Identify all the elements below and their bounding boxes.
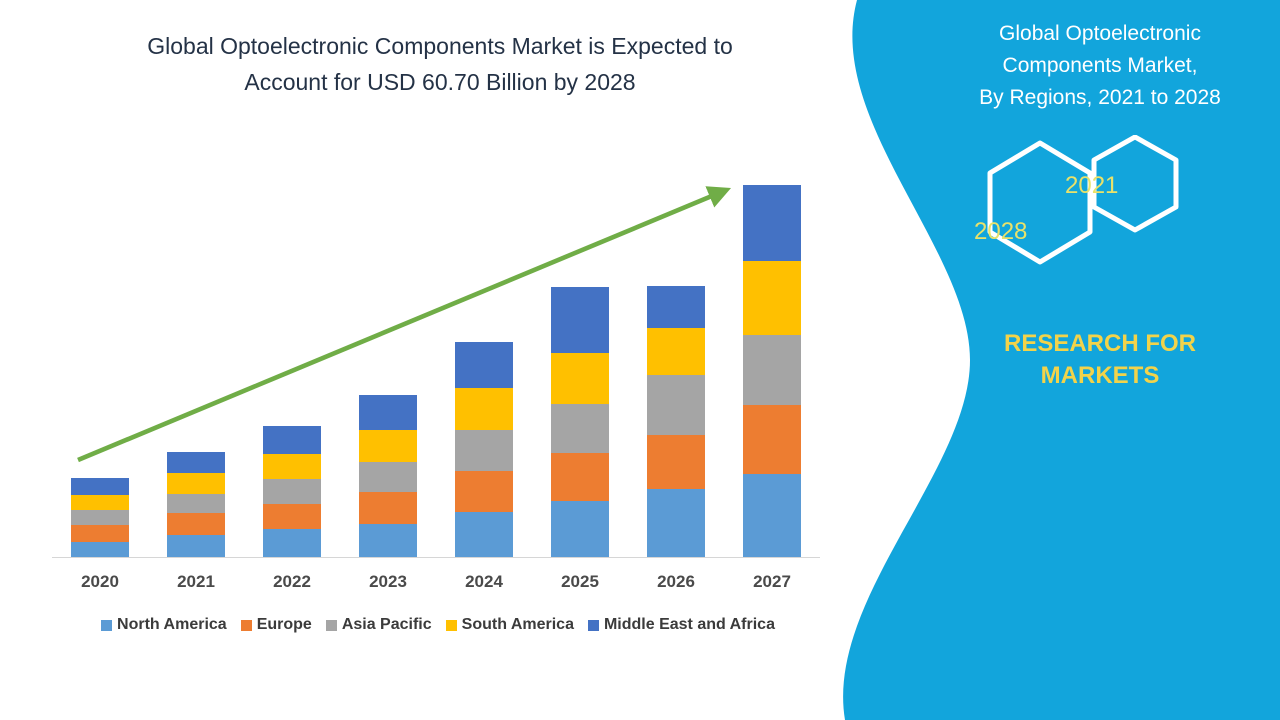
- bar-segment: [455, 430, 513, 471]
- chart-title-line-2: Account for USD 60.70 Billion by 2028: [60, 64, 820, 100]
- bar-segment: [455, 512, 513, 558]
- bar-segment: [551, 453, 609, 501]
- sidebar-title: Global Optoelectronic Components Market,…: [930, 18, 1270, 114]
- bar-segment: [647, 375, 705, 435]
- bar-segment: [359, 462, 417, 492]
- x-axis-label-2026: 2026: [628, 572, 724, 592]
- bar-2021: [167, 452, 225, 558]
- chart-panel: Global Optoelectronic Components Market …: [0, 0, 860, 720]
- bar-segment: [743, 185, 801, 261]
- legend-item: Europe: [241, 616, 312, 634]
- bar-segment: [359, 430, 417, 462]
- bar-segment: [167, 452, 225, 473]
- bar-segment: [455, 342, 513, 388]
- sidebar-title-line-3: By Regions, 2021 to 2028: [930, 82, 1270, 114]
- bar-2022: [263, 426, 321, 558]
- bar-segment: [167, 473, 225, 493]
- bar-segment: [167, 494, 225, 513]
- sidebar-title-line-2: Components Market,: [930, 50, 1270, 82]
- x-axis-label-2022: 2022: [244, 572, 340, 592]
- legend-swatch-icon: [588, 620, 599, 631]
- brand-line-2: MARKETS: [930, 360, 1270, 392]
- x-axis-label-2020: 2020: [52, 572, 148, 592]
- x-axis-label-2025: 2025: [532, 572, 628, 592]
- hexagon-2028-label: 2028: [974, 218, 1027, 246]
- legend-item: North America: [101, 616, 227, 634]
- x-axis-label-2027: 2027: [724, 572, 820, 592]
- bar-segment: [263, 426, 321, 454]
- bar-2026: [647, 286, 705, 558]
- bar-segment: [647, 328, 705, 375]
- bar-segment: [647, 286, 705, 328]
- bar-segment: [743, 405, 801, 474]
- legend-label: Europe: [257, 616, 312, 634]
- brand-wordmark: RESEARCH FOR MARKETS: [930, 328, 1270, 392]
- x-axis-line: [52, 557, 820, 558]
- legend-swatch-icon: [446, 620, 457, 631]
- bar-segment: [263, 479, 321, 504]
- bar-segment: [551, 353, 609, 404]
- sidebar-title-line-1: Global Optoelectronic: [930, 18, 1270, 50]
- chart-title-line-1: Global Optoelectronic Components Market …: [60, 28, 820, 64]
- legend-label: South America: [462, 616, 574, 634]
- infographic-canvas: Global Optoelectronic Components Market …: [0, 0, 1280, 720]
- bar-segment: [167, 513, 225, 534]
- bar-segment: [263, 529, 321, 558]
- bar-segment: [359, 524, 417, 558]
- bar-segment: [71, 495, 129, 510]
- x-axis-label-2024: 2024: [436, 572, 532, 592]
- legend-label: Middle East and Africa: [604, 616, 775, 634]
- bar-2024: [455, 342, 513, 558]
- bar-2027: [743, 185, 801, 558]
- x-axis-label-2023: 2023: [340, 572, 436, 592]
- bar-segment: [71, 478, 129, 494]
- bar-segment: [71, 542, 129, 558]
- chart-title: Global Optoelectronic Components Market …: [60, 28, 820, 100]
- bar-segment: [71, 525, 129, 541]
- legend-label: North America: [117, 616, 227, 634]
- chart-legend: North AmericaEuropeAsia PacificSouth Ame…: [52, 616, 824, 634]
- brand-line-1: RESEARCH FOR: [930, 328, 1270, 360]
- x-axis-label-2021: 2021: [148, 572, 244, 592]
- legend-swatch-icon: [241, 620, 252, 631]
- bar-segment: [647, 489, 705, 558]
- bar-2020: [71, 478, 129, 558]
- sidebar-content: Global Optoelectronic Components Market,…: [930, 0, 1280, 720]
- bar-segment: [455, 388, 513, 430]
- bar-2023: [359, 395, 417, 559]
- bar-segment: [743, 474, 801, 558]
- hexagon-2021-label: 2021: [1065, 172, 1118, 200]
- stacked-bar-plot-area: [52, 140, 820, 558]
- hexagon-outlines-icon: [970, 135, 1230, 285]
- bar-segment: [551, 501, 609, 558]
- legend-item: Middle East and Africa: [588, 616, 775, 634]
- bar-2025: [551, 287, 609, 558]
- legend-label: Asia Pacific: [342, 616, 432, 634]
- x-axis-labels: 20202021202220232024202520262027: [52, 572, 820, 600]
- bar-segment: [71, 510, 129, 525]
- bar-segment: [743, 261, 801, 336]
- bar-segment: [743, 335, 801, 404]
- hexagon-group: [970, 135, 1230, 285]
- bar-segment: [167, 535, 225, 559]
- bar-segment: [263, 504, 321, 530]
- bar-segment: [551, 287, 609, 352]
- legend-item: South America: [446, 616, 574, 634]
- bar-segment: [551, 404, 609, 453]
- legend-swatch-icon: [326, 620, 337, 631]
- bar-segment: [647, 435, 705, 488]
- bar-segment: [263, 454, 321, 480]
- legend-item: Asia Pacific: [326, 616, 432, 634]
- bar-segment: [359, 395, 417, 431]
- bar-segment: [455, 471, 513, 512]
- legend-swatch-icon: [101, 620, 112, 631]
- bar-segment: [359, 492, 417, 525]
